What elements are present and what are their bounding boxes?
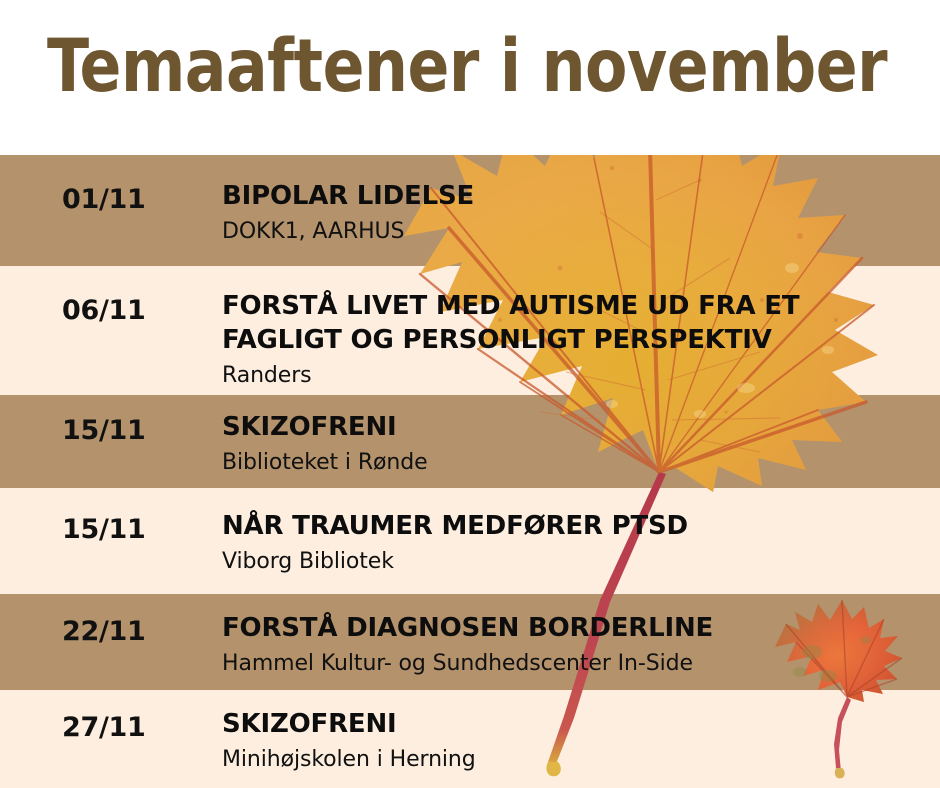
event-row[interactable]: 22/11 FORSTÅ DIAGNOSEN BORDERLINE Hammel…	[0, 594, 940, 690]
event-date: 15/11	[62, 415, 146, 446]
poster-canvas: 01/11 BIPOLAR LIDELSE DOKK1, AARHUS 06/1…	[0, 0, 940, 788]
event-venue: DOKK1, AARHUS	[222, 218, 930, 247]
event-body: FORSTÅ LIVET MED AUTISME UD FRA ET FAGLI…	[222, 266, 930, 390]
event-title: FORSTÅ LIVET MED AUTISME UD FRA ET FAGLI…	[222, 290, 930, 358]
event-row[interactable]: 27/11 SKIZOFRENI Minihøjskolen i Herning	[0, 690, 940, 788]
event-date: 27/11	[62, 712, 146, 743]
event-row[interactable]: 06/11 FORSTÅ LIVET MED AUTISME UD FRA ET…	[0, 266, 940, 395]
event-row[interactable]: 15/11 SKIZOFRENI Biblioteket i Rønde	[0, 395, 940, 488]
event-body: SKIZOFRENI Minihøjskolen i Herning	[222, 690, 930, 774]
event-body: BIPOLAR LIDELSE DOKK1, AARHUS	[222, 155, 930, 246]
event-title: NÅR TRAUMER MEDFØRER PTSD	[222, 510, 930, 544]
event-title: SKIZOFRENI	[222, 708, 930, 742]
event-venue: Randers	[222, 362, 930, 391]
event-date: 06/11	[62, 295, 146, 326]
event-body: FORSTÅ DIAGNOSEN BORDERLINE Hammel Kultu…	[222, 594, 930, 678]
event-body: SKIZOFRENI Biblioteket i Rønde	[222, 395, 930, 477]
poster-header: Temaaftener i november	[0, 0, 940, 155]
event-date: 22/11	[62, 616, 146, 647]
event-row[interactable]: 01/11 BIPOLAR LIDELSE DOKK1, AARHUS	[0, 155, 940, 266]
event-date: 01/11	[62, 184, 146, 215]
event-title: SKIZOFRENI	[222, 411, 930, 445]
event-venue: Minihøjskolen i Herning	[222, 746, 930, 775]
event-venue: Viborg Bibliotek	[222, 548, 930, 577]
event-venue: Hammel Kultur- og Sundhedscenter In-Side	[222, 650, 930, 679]
event-body: NÅR TRAUMER MEDFØRER PTSD Viborg Bibliot…	[222, 488, 930, 576]
event-title: FORSTÅ DIAGNOSEN BORDERLINE	[222, 612, 930, 646]
event-row[interactable]: 15/11 NÅR TRAUMER MEDFØRER PTSD Viborg B…	[0, 488, 940, 594]
event-title: BIPOLAR LIDELSE	[222, 180, 930, 214]
event-date: 15/11	[62, 514, 146, 545]
event-venue: Biblioteket i Rønde	[222, 449, 930, 478]
page-title: Temaaftener i november	[47, 29, 887, 106]
